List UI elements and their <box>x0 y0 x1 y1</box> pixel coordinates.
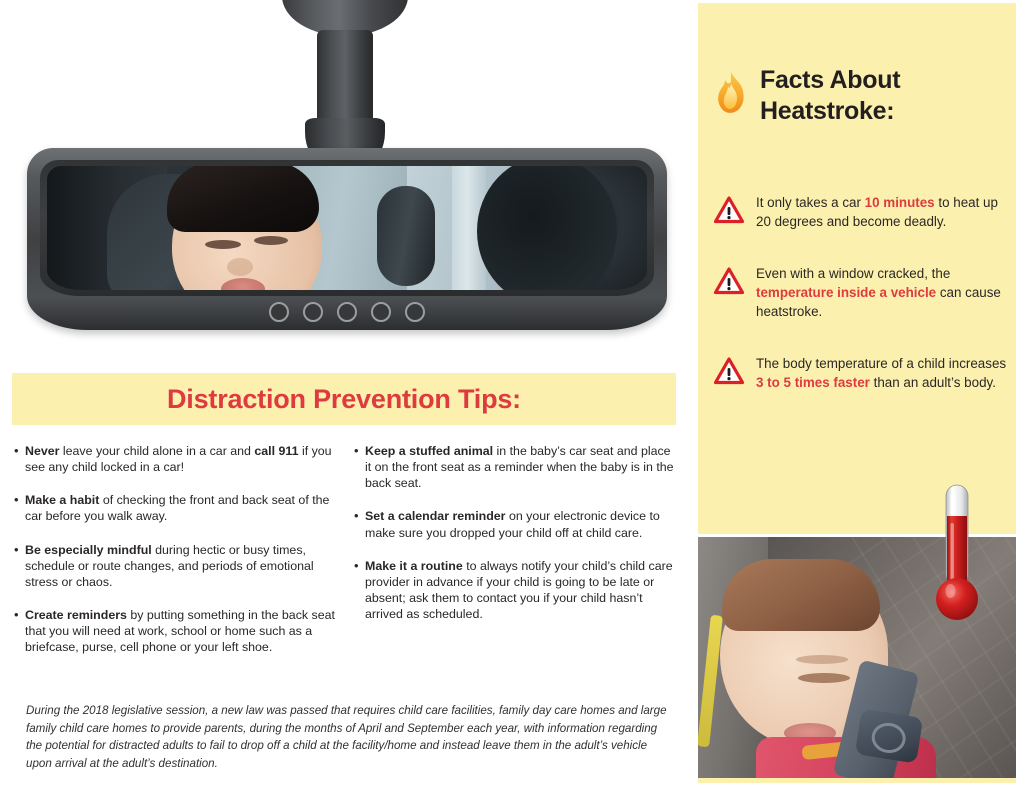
fact-highlight-1: 3 to 5 times faster <box>756 375 870 390</box>
mirror-glass-reflection <box>47 166 647 290</box>
tip-text: Set a calendar reminder on your electron… <box>365 508 676 540</box>
thermometer-icon <box>934 483 980 623</box>
fact-text: It only takes a car 10 minutes to heat u… <box>756 193 1014 231</box>
tip-text: Make a habit of checking the front and b… <box>25 492 336 524</box>
bullet-icon: • <box>14 542 25 590</box>
tip-text: Create reminders by putting something in… <box>25 607 336 655</box>
reflection-baby-hair <box>167 166 319 232</box>
tips-banner-title: Distraction Prevention Tips: <box>167 384 521 415</box>
tip-lead: Create reminders <box>25 608 127 622</box>
tip-body: leave your child alone in a car and <box>59 444 254 458</box>
bullet-icon: • <box>354 508 365 540</box>
photo-baby-hair <box>722 559 880 631</box>
fact-body-1: Even with a window cracked, the <box>756 266 950 281</box>
tip-text: Keep a stuffed animal in the baby’s car … <box>365 443 676 491</box>
tip-text: Be especially mindful during hectic or b… <box>25 542 336 590</box>
tips-column-right: • Keep a stuffed animal in the baby’s ca… <box>354 443 676 672</box>
flame-icon <box>714 71 748 115</box>
tip-text: Make it a routine to always notify your … <box>365 558 676 623</box>
fact-highlight-1: 10 minutes <box>865 195 935 210</box>
fact-item: It only takes a car 10 minutes to heat u… <box>714 193 1014 231</box>
tip-item: • Be especially mindful during hectic or… <box>14 542 336 590</box>
facts-header: Facts About Heatstroke: <box>714 65 1004 126</box>
rearview-mirror-illustration <box>0 0 690 370</box>
tips-column-left: • Never leave your child alone in a car … <box>14 443 336 672</box>
facts-title-line-2: Heatstroke: <box>760 96 900 127</box>
fact-item: Even with a window cracked, the temperat… <box>714 264 1014 321</box>
tip-lead: Make it a routine <box>365 559 463 573</box>
bullet-icon: • <box>14 492 25 524</box>
facts-title: Facts About Heatstroke: <box>760 65 900 126</box>
photo-bottom-strip <box>698 778 1016 783</box>
mirror-button-3[interactable] <box>337 302 357 322</box>
mirror-button-5[interactable] <box>405 302 425 322</box>
reflection-belt-pad <box>377 186 435 286</box>
tip-item: • Make it a routine to always notify you… <box>354 558 676 623</box>
bullet-icon: • <box>354 558 365 623</box>
reflection-baby-eye-left <box>205 240 241 249</box>
fact-text: Even with a window cracked, the temperat… <box>756 264 1014 321</box>
fact-body-1: The body temperature of a child increase… <box>756 356 1006 371</box>
warning-triangle-icon <box>714 196 744 224</box>
tip-lead: Be especially mindful <box>25 543 152 557</box>
warning-triangle-icon <box>714 267 744 295</box>
reflection-baby-nose <box>227 258 253 276</box>
fact-body-2: than an adult’s body. <box>870 375 996 390</box>
mirror-button-1[interactable] <box>269 302 289 322</box>
mirror-button-4[interactable] <box>371 302 391 322</box>
bullet-icon: • <box>14 443 25 475</box>
tip-item: • Never leave your child alone in a car … <box>14 443 336 475</box>
left-column: Distraction Prevention Tips: • Never lea… <box>0 0 690 791</box>
tip-lead: Set a calendar reminder <box>365 509 506 523</box>
photo-harness-buckle <box>855 708 923 763</box>
tip-text: Never leave your child alone in a car an… <box>25 443 336 475</box>
tip-lead: Make a habit <box>25 493 99 507</box>
reflection-baby-eye-right <box>254 236 288 245</box>
right-column: Facts About Heatstroke: It only takes a … <box>690 0 1024 791</box>
fact-body-1: It only takes a car <box>756 195 865 210</box>
tip-lead: Keep a stuffed animal <box>365 444 493 458</box>
tip-lead: Never <box>25 444 59 458</box>
photo-baby-brow <box>796 655 848 664</box>
baby-in-carseat-reflection <box>47 166 647 290</box>
tip-item: • Keep a stuffed animal in the baby’s ca… <box>354 443 676 491</box>
tip-item: • Create reminders by putting something … <box>14 607 336 655</box>
facts-list: It only takes a car 10 minutes to heat u… <box>714 193 1014 425</box>
fact-text: The body temperature of a child increase… <box>756 354 1014 392</box>
facts-title-line-1: Facts About <box>760 65 900 96</box>
fact-highlight-1: temperature inside a vehicle <box>756 285 936 300</box>
tips-columns: • Never leave your child alone in a car … <box>14 443 676 672</box>
tip-item: • Set a calendar reminder on your electr… <box>354 508 676 540</box>
mirror-button-row <box>27 302 667 322</box>
mirror-body <box>27 148 667 330</box>
facts-panel: Facts About Heatstroke: It only takes a … <box>698 3 1016 534</box>
bullet-icon: • <box>14 607 25 655</box>
bullet-icon: • <box>354 443 365 491</box>
tip-item: • Make a habit of checking the front and… <box>14 492 336 524</box>
warning-triangle-icon <box>714 357 744 385</box>
reflection-shadow <box>477 166 617 290</box>
legal-note: During the 2018 legislative session, a n… <box>26 702 674 773</box>
tips-banner: Distraction Prevention Tips: <box>12 373 676 425</box>
photo-buckle-ring <box>870 721 908 756</box>
photo-baby-eye <box>798 673 850 683</box>
fact-item: The body temperature of a child increase… <box>714 354 1014 392</box>
mirror-button-2[interactable] <box>303 302 323 322</box>
tip-lead-2: call 911 <box>254 444 298 458</box>
